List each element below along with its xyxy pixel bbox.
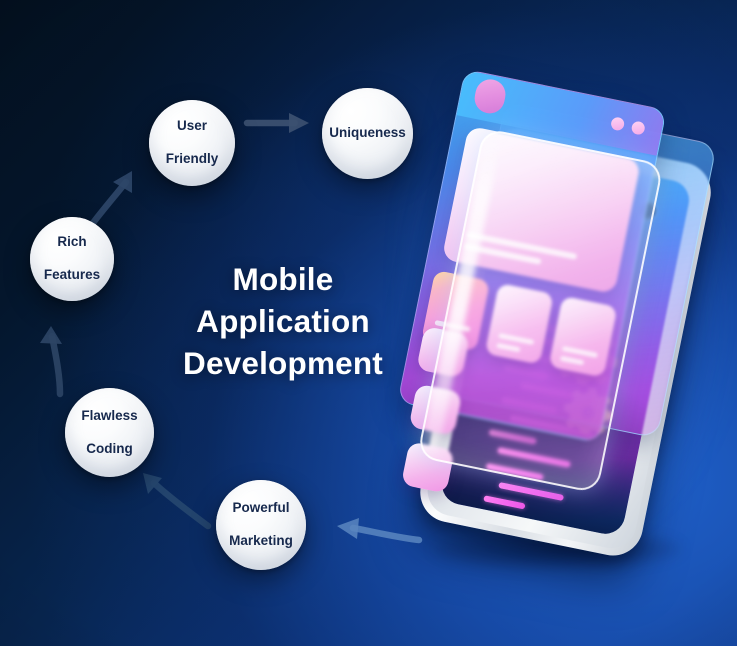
node-label-line2: Features <box>39 267 105 283</box>
node-label-line2: Friendly <box>161 151 224 167</box>
node-label: Uniqueness <box>324 125 411 141</box>
node-label-line2: Marketing <box>224 533 298 549</box>
node-label: UserFriendly <box>156 118 229 167</box>
node-rich-features[interactable]: RichFeatures <box>30 217 114 301</box>
node-label-line2: Coding <box>76 441 142 457</box>
node-label: RichFeatures <box>34 234 110 283</box>
arrow-user-friendly-to-uniqueness <box>245 104 319 142</box>
infographic-canvas: UserFriendly Uniqueness RichFeatures Fla… <box>0 0 737 646</box>
node-label-line1: Flawless <box>76 408 142 424</box>
phone-illustration <box>395 60 737 580</box>
node-label: PowerfulMarketing <box>219 500 303 549</box>
arrow-flawless-to-rich <box>36 322 78 396</box>
arrow-rich-to-user-friendly <box>88 163 144 227</box>
page-title: Mobile Application Development <box>150 258 416 384</box>
node-label-line1: User <box>161 118 224 134</box>
arrow-marketing-to-flawless <box>134 466 214 532</box>
node-label-line1: Powerful <box>224 500 298 516</box>
window-control-dot-icon <box>610 116 625 131</box>
page-title-line1: Mobile <box>150 258 416 300</box>
node-flawless-coding[interactable]: FlawlessCoding <box>65 388 154 477</box>
page-title-line2: Application <box>150 300 416 342</box>
page-title-line3: Development <box>150 342 416 384</box>
node-user-friendly[interactable]: UserFriendly <box>149 100 235 186</box>
node-powerful-marketing[interactable]: PowerfulMarketing <box>216 480 306 570</box>
window-control-dot-icon <box>631 120 646 135</box>
node-label-line1: Rich <box>39 234 105 250</box>
node-uniqueness[interactable]: Uniqueness <box>322 88 413 179</box>
node-label: FlawlessCoding <box>71 408 147 457</box>
avatar <box>472 77 508 116</box>
